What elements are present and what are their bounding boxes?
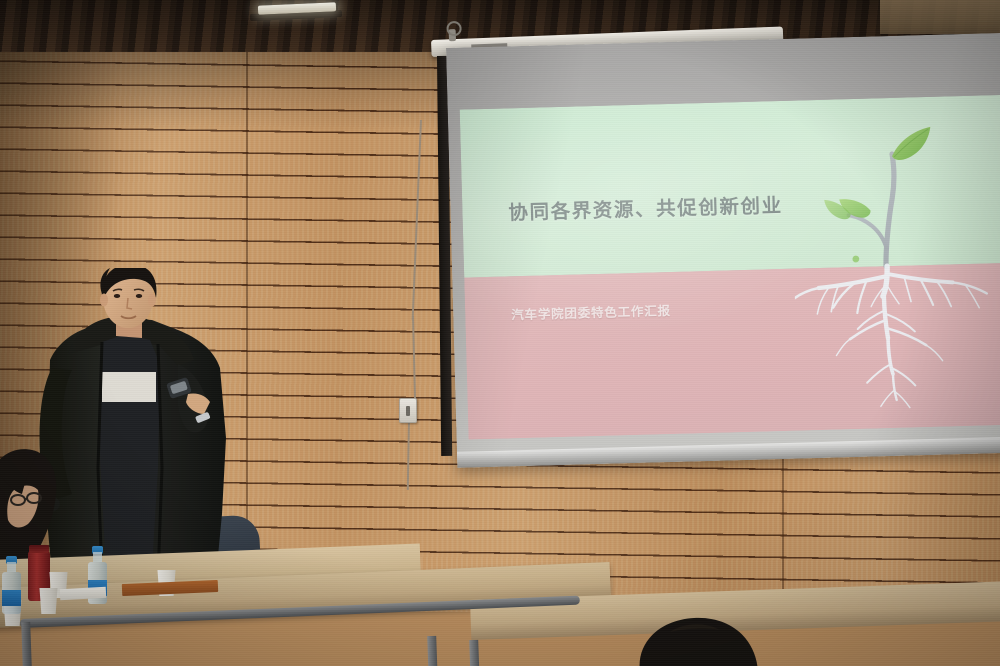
wall-outlet-plate[interactable] bbox=[399, 398, 417, 423]
foreground-person-head bbox=[610, 612, 790, 666]
paper-cup[interactable] bbox=[38, 588, 59, 614]
projection-screen[interactable]: 协同各界资源、共促创新创业 汽车学院团委特色工作汇报 bbox=[446, 33, 1000, 468]
sprout-graphic-icon bbox=[790, 95, 1000, 431]
projected-slide: 协同各界资源、共促创新创业 汽车学院团委特色工作汇报 bbox=[460, 95, 1000, 440]
bottle-neck bbox=[93, 552, 102, 562]
ceiling-corner-panel bbox=[880, 0, 1000, 34]
bottle-label bbox=[2, 590, 21, 606]
presentation-room-photo: 协同各界资源、共促创新创业 汽车学院团委特色工作汇报 bbox=[0, 0, 1000, 666]
water-bottle[interactable] bbox=[2, 556, 21, 614]
bottle-neck bbox=[7, 562, 16, 572]
table-leg bbox=[469, 640, 480, 666]
thermos-lid bbox=[29, 545, 49, 553]
table-leg bbox=[21, 622, 32, 666]
table-leg bbox=[427, 636, 438, 666]
